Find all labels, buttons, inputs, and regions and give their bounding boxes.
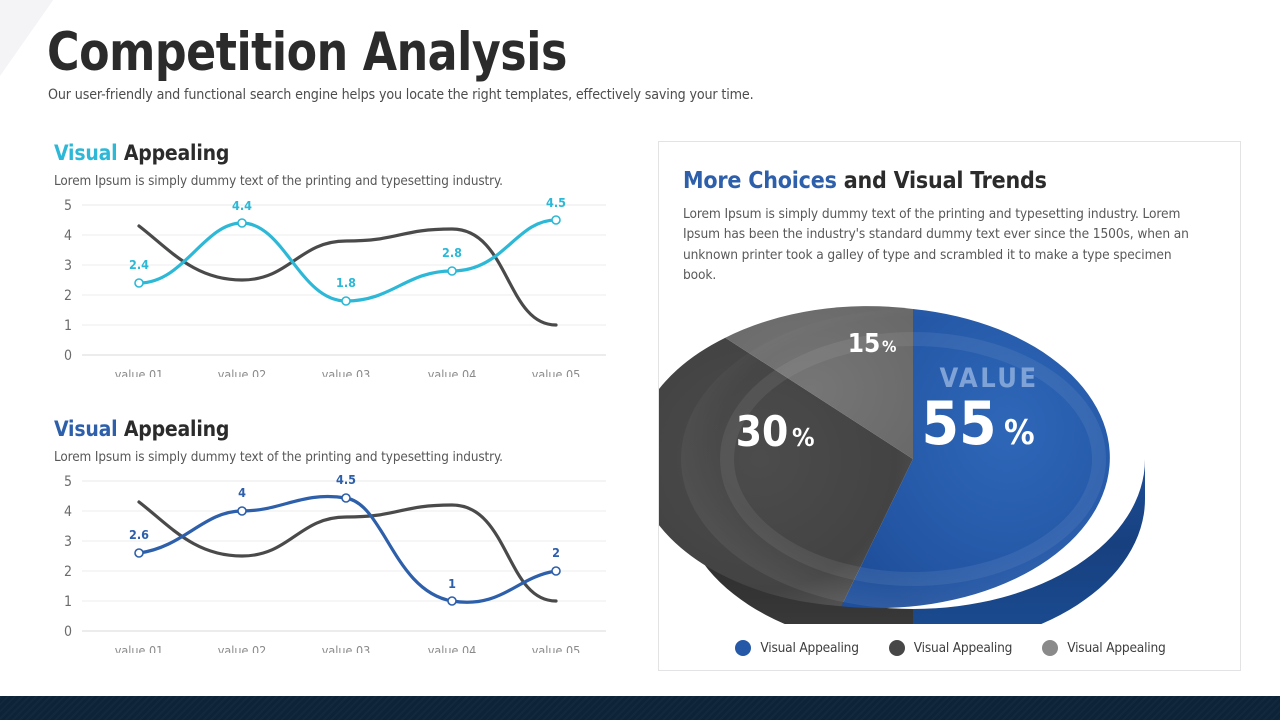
- y-tick: 2: [64, 288, 72, 304]
- x-tick: value 03: [322, 367, 371, 377]
- series-cyan-value-labels: 2.4 4.4 1.8 2.8 4.5: [129, 197, 566, 290]
- legend-item-blue[interactable]: Visual Appealing: [735, 640, 858, 656]
- deco-stripe: [0, 0, 44, 150]
- x-axis-categories: value 01 value 02 value 03 value 04 valu…: [115, 643, 581, 653]
- x-tick: value 05: [532, 367, 581, 377]
- y-tick: 5: [64, 474, 72, 490]
- x-tick: value 01: [115, 643, 164, 653]
- legend-dot-blue-icon: [735, 640, 751, 656]
- heading-accent: More Choices: [683, 168, 837, 194]
- panel-heading: More Choices and Visual Trends: [683, 168, 1216, 194]
- y-tick: 3: [64, 534, 72, 550]
- page-subtitle: Our user-friendly and functional search …: [48, 86, 754, 103]
- section-visual-appealing-cyan: Visual Appealing Lorem Ipsum is simply d…: [54, 141, 614, 377]
- legend-dot-mid-gray-icon: [1042, 640, 1058, 656]
- line-chart-blue: 5 4 3 2 1 0 2.6 4 4.5 1 2: [54, 473, 614, 653]
- series-blue-line: [139, 497, 556, 603]
- y-tick: 3: [64, 258, 72, 274]
- pie-chart-3d: VALUE 55 % 30 % 15 %: [659, 294, 1242, 624]
- x-tick: value 02: [218, 643, 267, 653]
- point-label: 4.5: [336, 473, 356, 487]
- point-label: 4.4: [232, 198, 252, 213]
- pie-value-30: 30: [736, 407, 789, 456]
- gridlines: [82, 481, 606, 631]
- legend-dot-dark-gray-icon: [889, 640, 905, 656]
- point-label: 2.4: [129, 257, 149, 272]
- deco-stripe: [0, 0, 11, 150]
- x-tick: value 01: [115, 367, 164, 377]
- pie-legend: Visual Appealing Visual Appealing Visual…: [659, 640, 1242, 656]
- heading-accent: Visual: [54, 141, 117, 165]
- y-axis-ticks: 5 4 3 2 1 0: [64, 474, 72, 640]
- point-label: 2.6: [129, 527, 149, 542]
- legend-label: Visual Appealing: [1067, 640, 1165, 656]
- legend-item-dark-gray[interactable]: Visual Appealing: [889, 640, 1012, 656]
- x-tick: value 02: [218, 367, 267, 377]
- pie-value-55: 55: [921, 389, 996, 459]
- x-tick: value 03: [322, 643, 371, 653]
- section-visual-appealing-blue: Visual Appealing Lorem Ipsum is simply d…: [54, 417, 614, 653]
- panel-body: Lorem Ipsum is simply dummy text of the …: [683, 204, 1208, 286]
- x-tick: value 04: [428, 367, 477, 377]
- section-heading: Visual Appealing: [54, 141, 614, 165]
- y-tick: 2: [64, 564, 72, 580]
- y-tick: 0: [64, 348, 72, 364]
- x-tick: value 04: [428, 643, 477, 653]
- pie-chart-3d-svg: VALUE 55 % 30 % 15 %: [659, 294, 1242, 624]
- line-chart-cyan: 5 4 3 2 1 0 2.4 4.4 1.8 2.8: [54, 197, 614, 377]
- point-label: 2.8: [442, 245, 462, 260]
- y-tick: 1: [64, 318, 72, 334]
- y-tick: 1: [64, 594, 72, 610]
- pie-unit-30: %: [792, 423, 815, 452]
- footer-bar: [0, 696, 1280, 720]
- y-tick: 5: [64, 198, 72, 214]
- line-chart-cyan-svg: 5 4 3 2 1 0 2.4 4.4 1.8 2.8: [54, 197, 614, 377]
- legend-label: Visual Appealing: [914, 640, 1012, 656]
- heading-rest: and Visual Trends: [837, 168, 1047, 194]
- x-axis-categories: value 01 value 02 value 03 value 04 valu…: [115, 367, 581, 377]
- point-label: 1: [448, 576, 456, 591]
- legend-item-mid-gray[interactable]: Visual Appealing: [1042, 640, 1165, 656]
- y-tick: 0: [64, 624, 72, 640]
- legend-label: Visual Appealing: [760, 640, 858, 656]
- point-label: 2: [552, 545, 560, 560]
- section-body: Lorem Ipsum is simply dummy text of the …: [54, 172, 554, 191]
- pie-unit-15: %: [882, 337, 896, 356]
- series-gray-line: [139, 502, 556, 601]
- y-axis-ticks: 5 4 3 2 1 0: [64, 198, 72, 364]
- point-label: 4.5: [546, 197, 566, 210]
- page-title: Competition Analysis: [47, 25, 567, 81]
- y-tick: 4: [64, 228, 72, 244]
- heading-rest: Appealing: [117, 141, 229, 165]
- more-choices-panel: More Choices and Visual Trends Lorem Ips…: [658, 141, 1241, 671]
- pie-rim-gloss: [681, 309, 1145, 609]
- section-heading: Visual Appealing: [54, 417, 614, 441]
- line-chart-blue-svg: 5 4 3 2 1 0 2.6 4 4.5 1 2: [54, 473, 614, 653]
- pie-unit-55: %: [1004, 413, 1035, 453]
- point-label: 4: [238, 485, 246, 500]
- section-body: Lorem Ipsum is simply dummy text of the …: [54, 448, 554, 467]
- point-label: 1.8: [336, 275, 356, 290]
- x-tick: value 05: [532, 643, 581, 653]
- pie-value-15: 15: [848, 329, 881, 359]
- y-tick: 4: [64, 504, 72, 520]
- heading-rest: Appealing: [117, 417, 229, 441]
- heading-accent: Visual: [54, 417, 117, 441]
